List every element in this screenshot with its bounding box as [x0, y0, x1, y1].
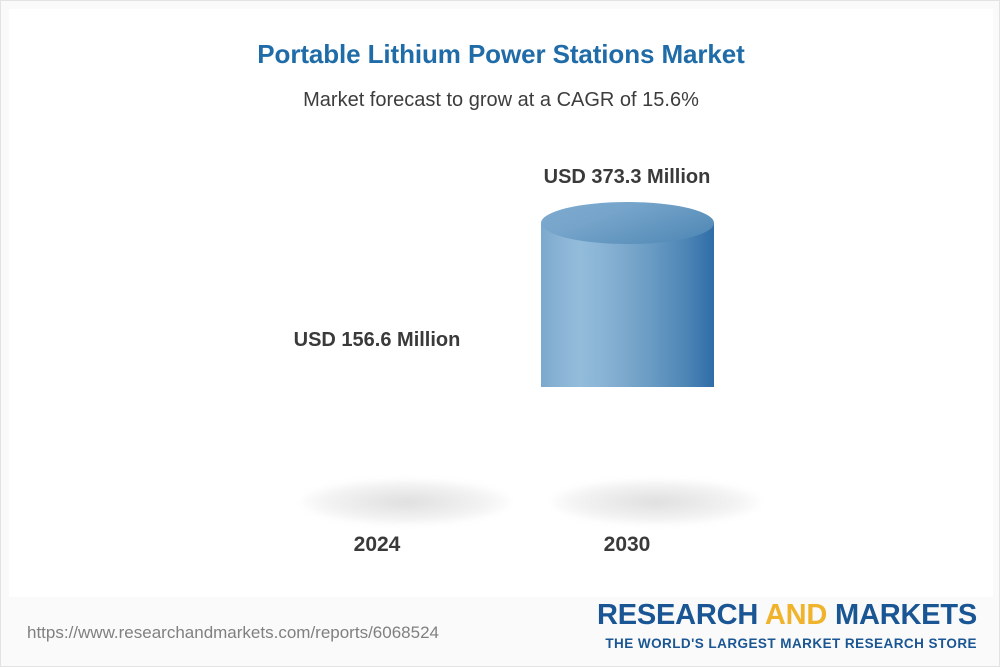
chart-page: Portable Lithium Power Stations Market M… — [0, 0, 1000, 667]
logo-markets-text: MARKETS — [835, 599, 977, 631]
logo-wordmark: RESEARCH AND MARKETS — [597, 601, 977, 630]
chart-subtitle: Market forecast to grow at a CAGR of 15.… — [1, 89, 1000, 112]
report-url[interactable]: https://www.researchandmarkets.com/repor… — [27, 623, 439, 643]
researchandmarkets-logo: RESEARCH AND MARKETS THE WORLD'S LARGEST… — [597, 601, 977, 651]
logo-tagline: THE WORLD'S LARGEST MARKET RESEARCH STOR… — [597, 637, 977, 651]
logo-and-text: AND — [765, 599, 827, 631]
bar-2030-segment-yellow — [541, 387, 714, 509]
chart-title: Portable Lithium Power Stations Market — [1, 39, 1000, 70]
bar-2030-top-cap — [541, 202, 714, 244]
bar-2030-segment-blue — [541, 223, 714, 387]
category-label-2030: 2030 — [477, 533, 777, 557]
bar-2030-body — [541, 223, 714, 509]
value-label-2024: USD 156.6 Million — [227, 329, 527, 352]
value-label-2030: USD 373.3 Million — [477, 166, 777, 189]
logo-research-text: RESEARCH — [597, 599, 758, 631]
bar-2024-top-cap — [291, 362, 464, 404]
